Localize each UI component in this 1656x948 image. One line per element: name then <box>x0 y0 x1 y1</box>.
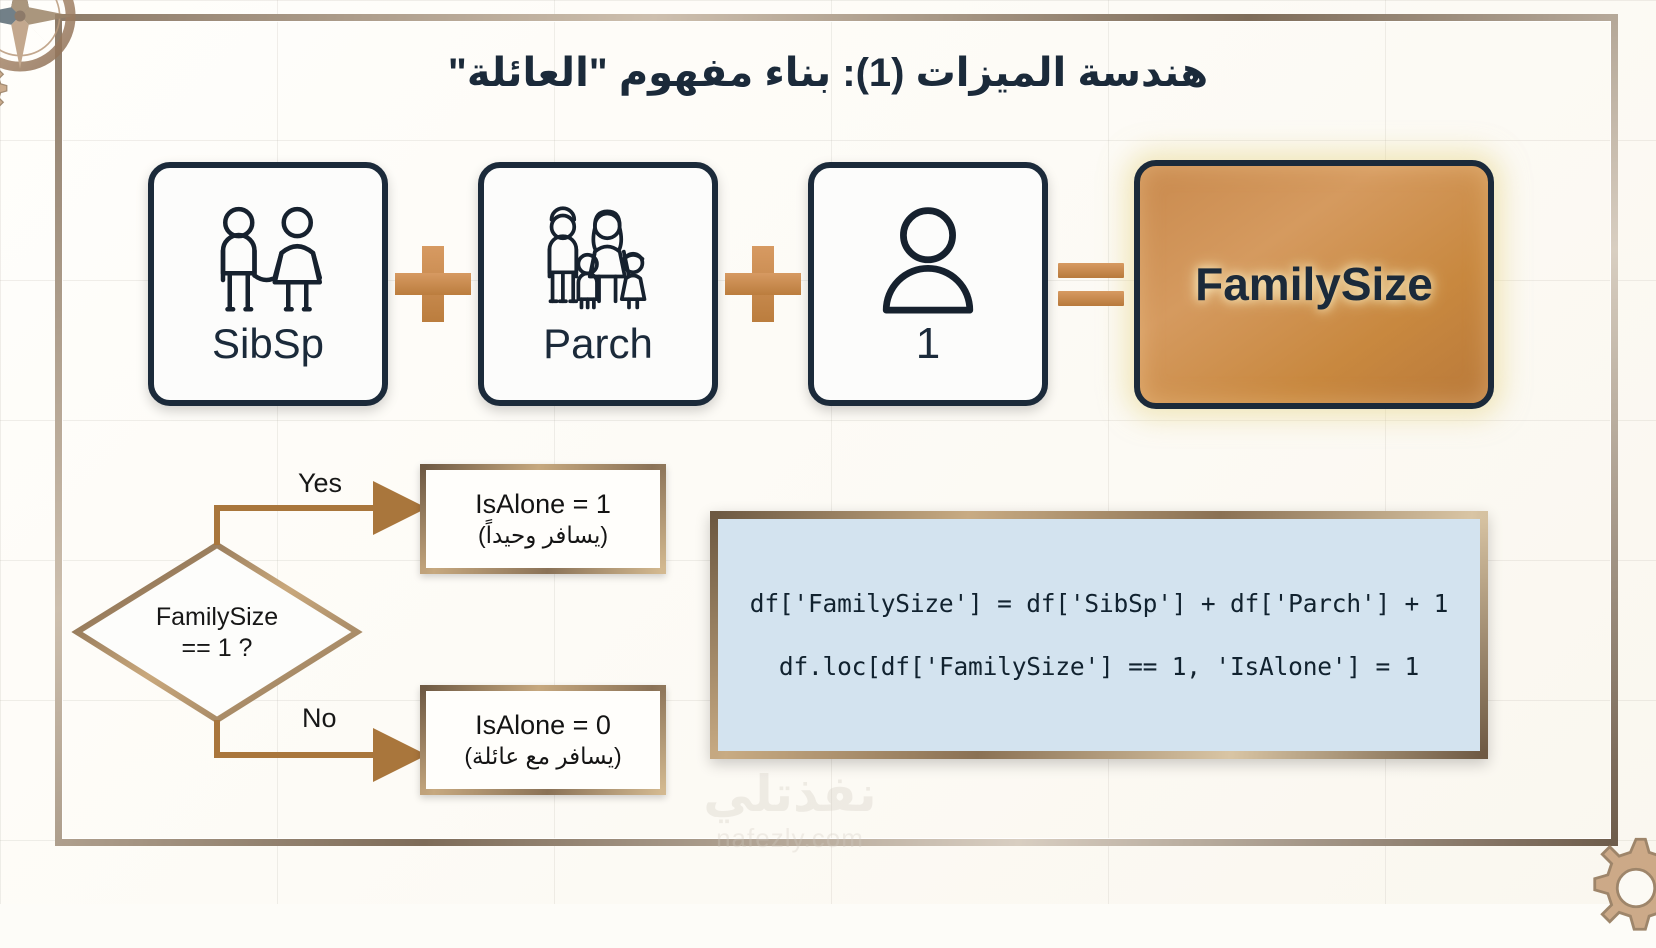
plus-sign-icon-2 <box>388 246 478 322</box>
outcome-yes-note: (يسافر وحيداً) <box>478 522 608 549</box>
familysize-label: FamilySize <box>1195 257 1433 311</box>
outcome-box-isalone-0[interactable]: IsAlone = 0 (يسافر مع عائلة) <box>420 685 666 795</box>
slide-canvas: هندسة الميزات (1): بناء مفهوم "العائلة" … <box>0 0 1656 904</box>
term-box-sibsp[interactable]: SibSp <box>148 162 388 406</box>
single-person-icon <box>865 202 991 320</box>
decision-line-1: FamilySize <box>156 602 278 633</box>
familysize-result-box[interactable]: FamilySize <box>1134 160 1494 409</box>
equals-sign-icon <box>1048 263 1134 306</box>
decision-line-2: == 1 ? <box>182 633 253 664</box>
term-caption-sibsp: SibSp <box>212 323 324 365</box>
code-line-2: df.loc[df['FamilySize'] == 1, 'IsAlone']… <box>734 652 1464 681</box>
code-line-1: df['FamilySize'] = df['SibSp'] + df['Par… <box>734 589 1464 618</box>
outcome-box-isalone-1[interactable]: IsAlone = 1 (يسافر وحيداً) <box>420 464 666 574</box>
branch-label-no: No <box>302 703 337 734</box>
decision-node[interactable]: FamilySize == 1 ? <box>77 545 357 720</box>
flowchart: FamilySize == 1 ? Yes No IsAlone = 1 (يس… <box>60 450 700 830</box>
outcome-no-note: (يسافر مع عائلة) <box>464 743 621 770</box>
term-caption-single-person: 1 <box>916 322 940 366</box>
plus-sign-icon-1 <box>718 246 808 322</box>
term-box-parch[interactable]: Parch <box>478 162 718 406</box>
outcome-no-value: IsAlone = 0 <box>475 710 611 741</box>
couple-icon <box>205 203 331 321</box>
code-panel[interactable]: df['FamilySize'] = df['SibSp'] + df['Par… <box>710 511 1488 759</box>
outcome-yes-value: IsAlone = 1 <box>475 489 611 520</box>
branch-label-yes: Yes <box>298 468 342 499</box>
term-caption-parch: Parch <box>543 323 653 365</box>
equation-row: FamilySize 1 <box>78 163 1494 405</box>
gear-icon-bottom-right <box>1576 828 1656 948</box>
term-box-single-person[interactable]: 1 <box>808 162 1048 406</box>
page-title: هندسة الميزات (1): بناء مفهوم "العائلة" <box>0 50 1656 96</box>
family-group-icon <box>535 203 661 321</box>
